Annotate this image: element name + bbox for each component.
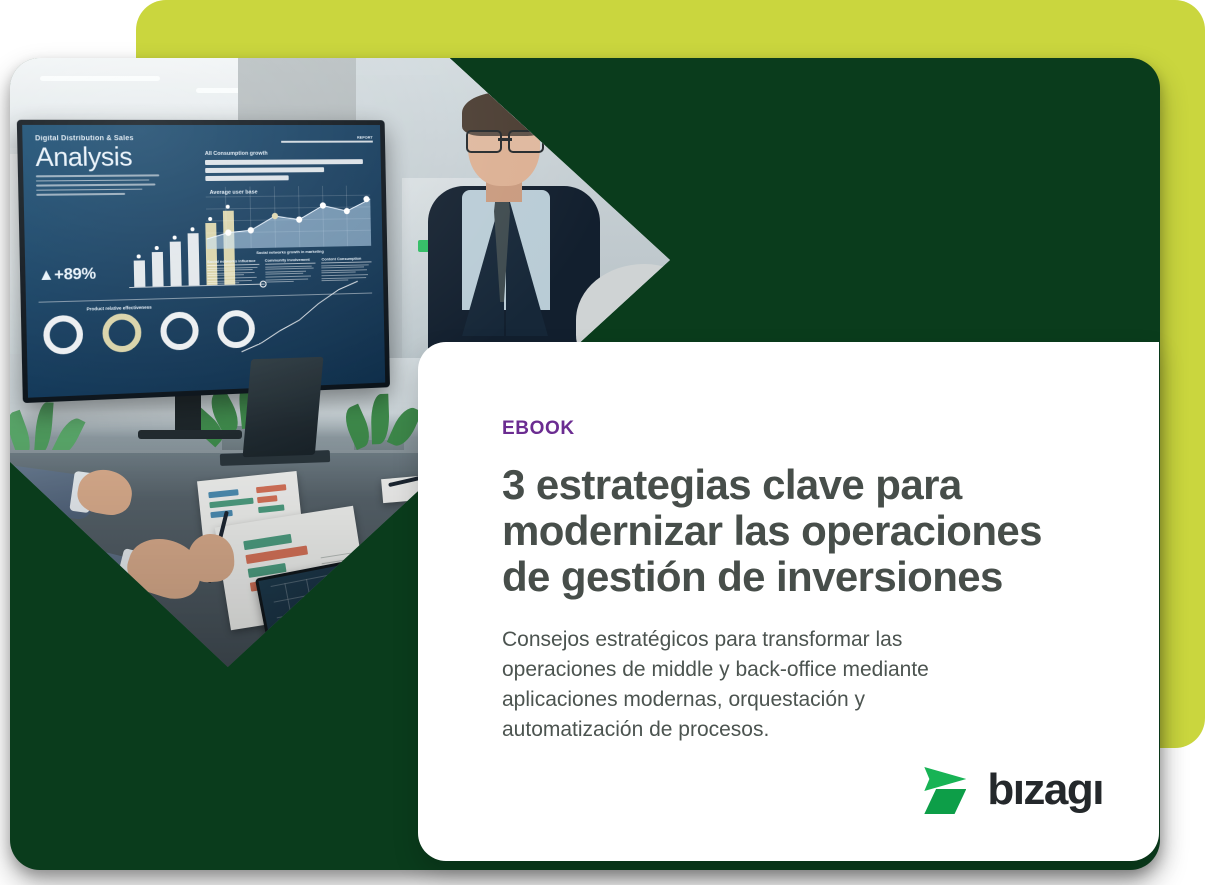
subcopy-line: automatización de procesos.	[502, 715, 1062, 745]
bizagi-wordmark: bızagı	[987, 768, 1103, 812]
subcopy-line: operaciones de middle y back-office medi…	[502, 655, 1062, 685]
headline-line: modernizar las operaciones	[502, 508, 1099, 554]
bizagi-logo: bızagı	[920, 763, 1103, 817]
subcopy-line: Consejos estratégicos para transformar l…	[502, 625, 1062, 655]
subcopy-line: aplicaciones modernas, orquestación y	[502, 685, 1062, 715]
headline-line: de gestión de inversiones	[502, 554, 1099, 600]
page-subtitle: Consejos estratégicos para transformar l…	[502, 625, 1062, 744]
bizagi-chevron-icon	[920, 763, 974, 817]
page-title: 3 estrategias clave para modernizar las …	[502, 462, 1099, 599]
content-type-label: EBOOK	[502, 418, 1099, 440]
composition-stage: Digital Distribution & Sales Analysis ▲+…	[0, 0, 1214, 885]
content-card: EBOOK 3 estrategias clave para moderniza…	[418, 342, 1159, 861]
headline-line: 3 estrategias clave para	[502, 462, 1099, 508]
